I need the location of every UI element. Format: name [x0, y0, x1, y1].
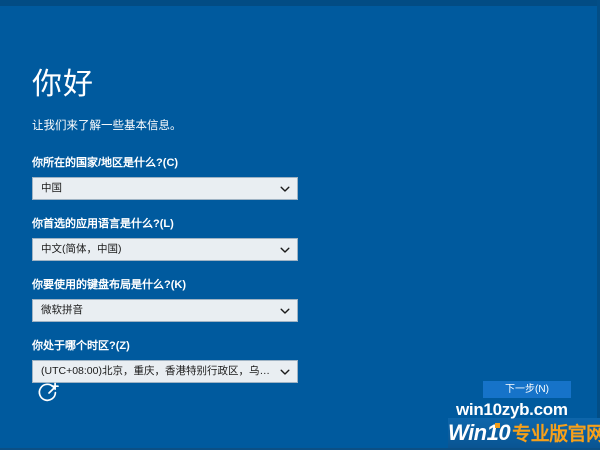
label-timezone: 你处于哪个时区?(Z) [32, 339, 312, 353]
field-group-keyboard: 你要使用的键盘布局是什么?(K) 微软拼音 [32, 278, 312, 322]
watermark-accent-dot [495, 423, 500, 428]
watermark: win10zyb.com Win10专业版官网 [448, 400, 600, 450]
field-group-timezone: 你处于哪个时区?(Z) (UTC+08:00)北京，重庆，香港特别行政区，乌鲁木… [32, 339, 312, 383]
dropdown-language-value: 中文(简体，中国) [33, 243, 297, 256]
chevron-down-icon [280, 367, 290, 377]
next-button[interactable]: 下一步(N) [483, 381, 571, 398]
watermark-brand: Win10专业版官网 [448, 420, 600, 449]
chevron-down-icon [280, 184, 290, 194]
field-group-country: 你所在的国家/地区是什么?(C) 中国 [32, 156, 312, 200]
setup-content: 你好 让我们来了解一些基本信息。 你所在的国家/地区是什么?(C) 中国 你首选… [32, 68, 312, 400]
oobe-screen: 你好 让我们来了解一些基本信息。 你所在的国家/地区是什么?(C) 中国 你首选… [0, 0, 600, 450]
ease-of-access-icon[interactable] [37, 381, 61, 405]
dropdown-timezone[interactable]: (UTC+08:00)北京，重庆，香港特别行政区，乌鲁木齐 [32, 360, 298, 383]
dropdown-timezone-value: (UTC+08:00)北京，重庆，香港特别行政区，乌鲁木齐 [33, 365, 297, 378]
dropdown-country-value: 中国 [33, 182, 297, 195]
dropdown-language[interactable]: 中文(简体，中国) [32, 238, 298, 261]
label-language: 你首选的应用语言是什么?(L) [32, 217, 312, 231]
watermark-brand-latin: Win10 [448, 420, 510, 445]
dropdown-keyboard[interactable]: 微软拼音 [32, 299, 298, 322]
watermark-brand-chinese: 专业版官网 [510, 424, 600, 445]
label-country: 你所在的国家/地区是什么?(C) [32, 156, 312, 170]
dropdown-keyboard-value: 微软拼音 [33, 304, 297, 317]
watermark-domain: win10zyb.com [456, 400, 568, 420]
label-keyboard: 你要使用的键盘布局是什么?(K) [32, 278, 312, 292]
page-title: 你好 [32, 68, 312, 102]
top-edge-strip [0, 0, 600, 6]
dropdown-country[interactable]: 中国 [32, 177, 298, 200]
chevron-down-icon [280, 306, 290, 316]
chevron-down-icon [280, 245, 290, 255]
page-subtitle: 让我们来了解一些基本信息。 [32, 118, 312, 134]
field-group-language: 你首选的应用语言是什么?(L) 中文(简体，中国) [32, 217, 312, 261]
